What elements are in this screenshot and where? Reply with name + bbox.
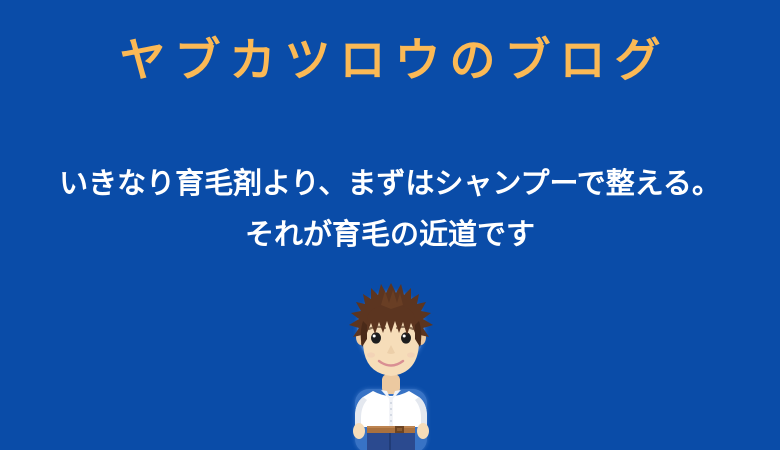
- tagline: いきなり育毛剤より、まずはシャンプーで整える。 それが育毛の近道です: [0, 158, 780, 260]
- avatar-illustration: [341, 281, 441, 450]
- avatar: [341, 281, 441, 450]
- tagline-line-2: それが育毛の近道です: [0, 209, 780, 260]
- left-hand: [353, 423, 365, 439]
- right-hand: [417, 423, 429, 439]
- left-eye: [371, 332, 381, 343]
- right-eye: [401, 332, 411, 343]
- blog-header-banner: ヤブカツロウのブログ いきなり育毛剤より、まずはシャンプーで整える。 それが育毛…: [0, 0, 780, 450]
- page-title: ヤブカツロウのブログ: [0, 34, 780, 87]
- tagline-line-1: いきなり育毛剤より、まずはシャンプーで整える。: [0, 158, 780, 209]
